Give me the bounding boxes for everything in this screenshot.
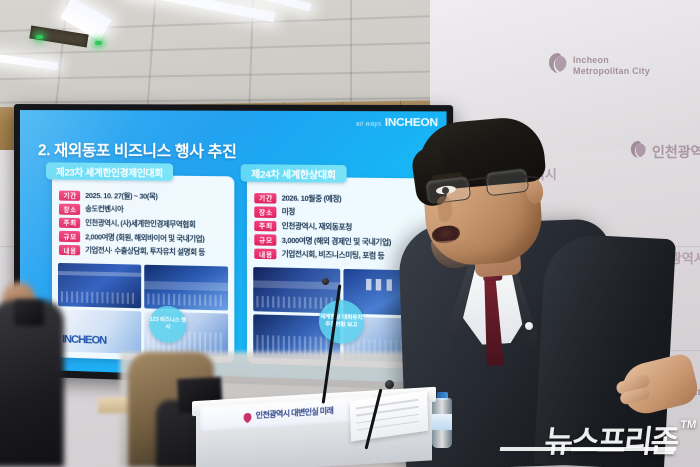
info-value: 인천광역시, 재외동포청 — [282, 221, 352, 233]
speaker-right-shoulder — [534, 233, 676, 467]
event-photo: INCHEON — [58, 309, 141, 354]
incheon-swirl-icon — [548, 52, 568, 79]
info-value: 2,000여명 (회원, 해외바이어 및 국내기업) — [85, 232, 204, 244]
slide-brand-logo: all ways INCHEON — [356, 116, 438, 129]
slide-card-right-header: 제24차 세계한상대회 — [241, 164, 347, 183]
microphone-head — [322, 278, 329, 285]
info-value: 2025. 10. 27(월) ~ 30(목) — [85, 191, 157, 202]
info-tag: 장 소 — [254, 207, 276, 218]
presentation-display: all ways INCHEON 2. 재외동포 비즈니스 행사 추진 제23차… — [14, 104, 453, 391]
ceiling-light — [0, 54, 58, 71]
wall-logo-incheon-korean-mid: 인천광역시 — [630, 140, 700, 164]
indicator-light — [36, 35, 43, 39]
incheon-swirl-icon — [630, 140, 647, 164]
press-briefing-photo: Incheon Metropolitan City 인천광역시 인천광역시 인천… — [0, 0, 700, 467]
info-value: 기업전시· 수출상담회, 투자유치 설명회 등 — [85, 246, 205, 258]
wall-logo-text: Incheon Metropolitan City — [573, 55, 650, 75]
info-value: 송도컨벤시아 — [85, 204, 123, 215]
indicator-light — [95, 41, 102, 45]
slide-canvas: all ways INCHEON 2. 재외동포 비즈니스 행사 추진 제23차… — [20, 110, 447, 383]
info-tag: 장 소 — [59, 204, 80, 215]
info-tag: 규 모 — [59, 231, 80, 242]
video-camera — [14, 300, 44, 326]
slide-brand-name: INCHEON — [385, 116, 438, 129]
wall-logo-incheon-metropolitan-city: Incheon Metropolitan City — [548, 52, 650, 79]
info-value: 미정 — [282, 207, 295, 218]
news-watermark-underline — [500, 447, 676, 451]
info-value: 3,000여명 (해외 경제인 및 국내기업) — [282, 235, 391, 247]
info-tag: 내 용 — [254, 248, 276, 259]
water-bottle-label — [432, 414, 452, 430]
slide-card-left-photos: INCHEON — [58, 263, 228, 357]
speaker-lapel-pin — [525, 322, 533, 330]
slide-card-left: 제23차 세계한인경제인대회 기 간 2025. 10. 27(월) ~ 30(… — [52, 174, 234, 363]
info-tag: 기 간 — [59, 190, 80, 201]
info-tag: 내 용 — [59, 245, 80, 256]
event-photo — [58, 263, 141, 308]
event-photo — [144, 265, 228, 310]
microphone-head — [385, 380, 394, 389]
podium-banner-text: 인천광역시 대변인실 미래 — [256, 405, 334, 421]
slide-card-left-rows: 기 간 2025. 10. 27(월) ~ 30(목) 장 소 송도컨벤시아 주… — [59, 189, 228, 261]
podium-banner-mark-icon — [243, 410, 252, 422]
photo-caption: INCHEON — [62, 333, 106, 346]
info-tag: 주 최 — [254, 221, 276, 232]
slide-brand-prefix: all ways — [356, 122, 382, 128]
slide-callout-bubble-left: 123 비즈니스 행사 — [149, 305, 186, 343]
slide-title: 2. 재외동포 비즈니스 행사 추진 — [38, 138, 237, 162]
slide-card-left-header: 제23차 세계한인경제인대회 — [46, 162, 173, 181]
info-tag: 규 모 — [254, 234, 276, 245]
info-value: 2026. 10월중 (예정) — [282, 193, 342, 204]
slide-callout-bubble-right: 세계한상 대회유치 추진현황 보고 — [319, 299, 364, 344]
info-value: 기업전시회, 비즈니스미팅, 포럼 등 — [282, 249, 385, 261]
info-row: 내 용 기업전시· 수출상담회, 투자유치 설명회 등 — [59, 243, 228, 260]
info-tag: 기 간 — [254, 193, 276, 204]
info-value: 인천광역시, (사)세계한인경제무역협회 — [85, 218, 195, 230]
wall-logo-text-korean: 인천광역시 — [652, 142, 700, 162]
info-tag: 주 최 — [59, 217, 80, 228]
speaker-glasses-lens-right — [485, 168, 530, 197]
